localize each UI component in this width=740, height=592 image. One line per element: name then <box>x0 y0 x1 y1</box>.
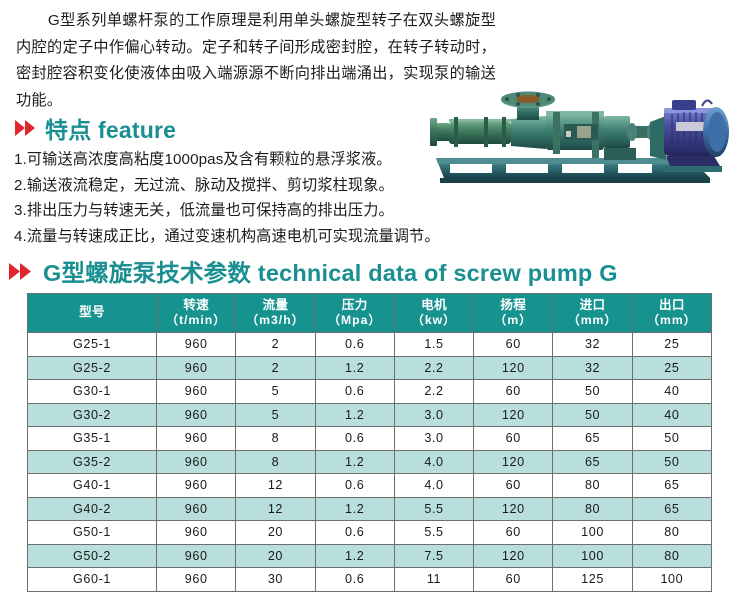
column-header-speed: 转速 （t/min） <box>157 294 236 333</box>
column-header-head: 扬程 （m） <box>474 294 553 333</box>
double-chevron-right-icon <box>14 119 45 137</box>
table-row: G30-296051.23.01205040 <box>28 403 712 427</box>
feature-list-item: 2.输送液流稳定，无过流、脉动及搅拌、剪切浆柱现象。 <box>14 173 484 199</box>
cell-model: G60-1 <box>28 568 157 592</box>
table-cell: 960 <box>157 333 236 357</box>
cell-model: G30-2 <box>28 403 157 427</box>
table-cell: 960 <box>157 521 236 545</box>
column-header-unit: （m3/h） <box>236 313 314 329</box>
table-row: G25-296021.22.21203225 <box>28 356 712 380</box>
table-cell: 0.6 <box>315 521 394 545</box>
table-cell: 3.0 <box>394 403 473 427</box>
table-cell: 8 <box>236 450 315 474</box>
table-cell: 8 <box>236 427 315 451</box>
table-cell: 32 <box>553 356 632 380</box>
table-cell: 80 <box>553 497 632 521</box>
column-header-unit: （t/min） <box>157 313 235 329</box>
table-cell: 65 <box>553 450 632 474</box>
column-header-unit: （mm） <box>633 313 711 329</box>
table-cell: 40 <box>632 403 711 427</box>
table-cell: 5 <box>236 380 315 404</box>
table-cell: 50 <box>553 403 632 427</box>
table-cell: 2 <box>236 356 315 380</box>
table-cell: 12 <box>236 497 315 521</box>
table-cell: 11 <box>394 568 473 592</box>
column-header-name: 压力 <box>342 298 368 312</box>
column-header-pressure: 压力 （Mpa） <box>315 294 394 333</box>
cell-model: G30-1 <box>28 380 157 404</box>
table-cell: 20 <box>236 521 315 545</box>
cell-model: G25-1 <box>28 333 157 357</box>
cell-model: G25-2 <box>28 356 157 380</box>
table-cell: 65 <box>553 427 632 451</box>
table-cell: 120 <box>474 497 553 521</box>
cell-model: G35-1 <box>28 427 157 451</box>
column-header-name: 型号 <box>79 305 105 319</box>
table-cell: 32 <box>553 333 632 357</box>
table-cell: 4.0 <box>394 474 473 498</box>
column-header-name: 电机 <box>421 298 447 312</box>
table-cell: 40 <box>632 380 711 404</box>
table-cell: 1.2 <box>315 356 394 380</box>
table-row: G25-196020.61.5603225 <box>28 333 712 357</box>
table-cell: 80 <box>553 474 632 498</box>
table-cell: 960 <box>157 450 236 474</box>
section-heading-feature: 特点 feature <box>14 111 176 145</box>
column-header-name: 转速 <box>183 298 209 312</box>
table-body: G25-196020.61.5603225G25-296021.22.21203… <box>28 333 712 592</box>
table-cell: 65 <box>632 474 711 498</box>
table-row: G40-2960121.25.51208065 <box>28 497 712 521</box>
table-cell: 60 <box>474 380 553 404</box>
column-header-unit: （kw） <box>395 313 473 329</box>
table-cell: 60 <box>474 474 553 498</box>
spec-table-container: 型号 转速 （t/min） 流量 （m3/h） 压力 （Mpa） 电机 （ <box>27 293 712 592</box>
column-header-unit: （mm） <box>553 313 631 329</box>
table-cell: 4.0 <box>394 450 473 474</box>
table-cell: 5 <box>236 403 315 427</box>
table-row: G60-1960300.61160125100 <box>28 568 712 592</box>
column-header-unit: （Mpa） <box>316 313 394 329</box>
table-cell: 120 <box>474 450 553 474</box>
feature-list: 1.可输送高浓度高粘度1000pas及含有颗粒的悬浮浆液。 2.输送液流稳定，无… <box>14 147 484 249</box>
technical-data-table: 型号 转速 （t/min） 流量 （m3/h） 压力 （Mpa） 电机 （ <box>27 293 712 592</box>
table-cell: 0.6 <box>315 474 394 498</box>
table-cell: 2.2 <box>394 356 473 380</box>
table-cell: 50 <box>632 427 711 451</box>
table-cell: 100 <box>632 568 711 592</box>
table-cell: 1.2 <box>315 450 394 474</box>
table-cell: 50 <box>553 380 632 404</box>
column-header-name: 流量 <box>263 298 289 312</box>
table-cell: 0.6 <box>315 380 394 404</box>
table-cell: 960 <box>157 427 236 451</box>
table-cell: 25 <box>632 356 711 380</box>
table-cell: 125 <box>553 568 632 592</box>
table-cell: 5.5 <box>394 497 473 521</box>
table-cell: 0.6 <box>315 333 394 357</box>
table-cell: 120 <box>474 403 553 427</box>
table-header-row: 型号 转速 （t/min） 流量 （m3/h） 压力 （Mpa） 电机 （ <box>28 294 712 333</box>
table-cell: 1.2 <box>315 497 394 521</box>
table-cell: 3.0 <box>394 427 473 451</box>
table-cell: 1.2 <box>315 403 394 427</box>
heading-feature-label: 特点 feature <box>45 111 176 145</box>
table-cell: 0.6 <box>315 568 394 592</box>
column-header-flow: 流量 （m3/h） <box>236 294 315 333</box>
table-cell: 960 <box>157 568 236 592</box>
cell-model: G50-1 <box>28 521 157 545</box>
table-cell: 5.5 <box>394 521 473 545</box>
table-cell: 80 <box>632 521 711 545</box>
feature-list-item: 1.可输送高浓度高粘度1000pas及含有颗粒的悬浮浆液。 <box>14 147 484 173</box>
cell-model: G35-2 <box>28 450 157 474</box>
cell-model: G40-2 <box>28 497 157 521</box>
table-row: G40-1960120.64.0608065 <box>28 474 712 498</box>
column-header-inlet: 进口 （mm） <box>553 294 632 333</box>
table-cell: 50 <box>632 450 711 474</box>
table-cell: 960 <box>157 474 236 498</box>
table-cell: 100 <box>553 521 632 545</box>
table-cell: 25 <box>632 333 711 357</box>
table-cell: 960 <box>157 403 236 427</box>
column-header-unit: （m） <box>474 313 552 329</box>
column-header-name: 扬程 <box>500 298 526 312</box>
table-cell: 1.5 <box>394 333 473 357</box>
table-cell: 960 <box>157 497 236 521</box>
table-cell: 60 <box>474 568 553 592</box>
table-row: G35-296081.24.01206550 <box>28 450 712 474</box>
table-cell: 12 <box>236 474 315 498</box>
table-cell: 2.2 <box>394 380 473 404</box>
table-row: G35-196080.63.0606550 <box>28 427 712 451</box>
cell-model: G40-1 <box>28 474 157 498</box>
table-row: G30-196050.62.2605040 <box>28 380 712 404</box>
table-cell: 65 <box>632 497 711 521</box>
table-cell: 30 <box>236 568 315 592</box>
column-header-motor: 电机 （kw） <box>394 294 473 333</box>
table-cell: 60 <box>474 333 553 357</box>
table-cell: 960 <box>157 380 236 404</box>
table-cell: 960 <box>157 356 236 380</box>
column-header-name: 出口 <box>659 298 685 312</box>
column-header-model: 型号 <box>28 294 157 333</box>
feature-list-item: 3.排出压力与转速无关，低流量也可保持高的排出压力。 <box>14 198 484 224</box>
double-chevron-right-icon <box>8 262 43 281</box>
table-row: G50-1960200.65.56010080 <box>28 521 712 545</box>
column-header-outlet: 出口 （mm） <box>632 294 711 333</box>
table-cell: 0.6 <box>315 427 394 451</box>
table-cell: 2 <box>236 333 315 357</box>
heading-technical-label: G型螺旋泵技术参数 technical data of screw pump G <box>43 254 618 288</box>
feature-list-item: 4.流量与转速成正比，通过变速机构高速电机可实现流量调节。 <box>14 224 484 250</box>
table-cell: 60 <box>474 521 553 545</box>
table-cell: 60 <box>474 427 553 451</box>
column-header-name: 进口 <box>580 298 606 312</box>
table-cell: 120 <box>474 356 553 380</box>
section-heading-technical-data: G型螺旋泵技术参数 technical data of screw pump G <box>8 254 618 288</box>
